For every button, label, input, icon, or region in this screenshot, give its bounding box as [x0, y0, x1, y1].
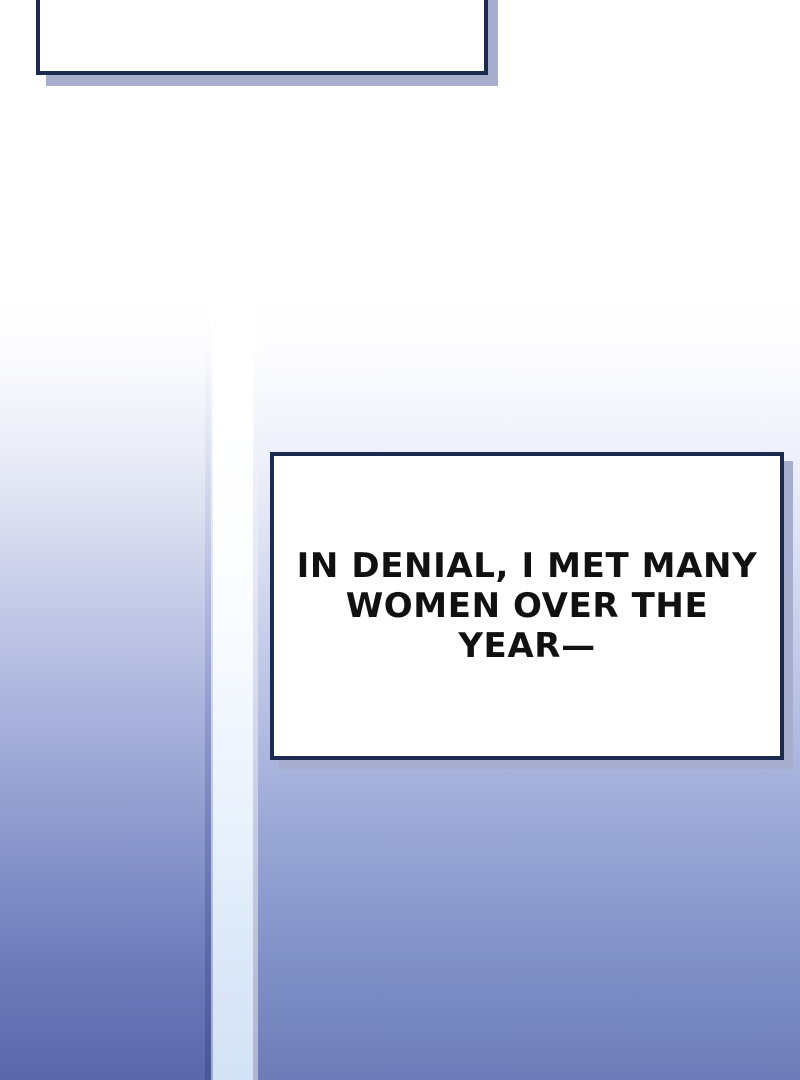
- wall-light-strip: [213, 0, 253, 1080]
- main-speech-bubble-text: IN DENIAL, I MET MANY WOMEN OVER THE YEA…: [274, 546, 780, 666]
- main-speech-bubble: IN DENIAL, I MET MANY WOMEN OVER THE YEA…: [270, 452, 784, 760]
- comic-panel: IN DENIAL, I MET MANY WOMEN OVER THE YEA…: [0, 0, 800, 1080]
- background-wall-left: [0, 0, 211, 1080]
- top-speech-bubble: [36, 0, 488, 75]
